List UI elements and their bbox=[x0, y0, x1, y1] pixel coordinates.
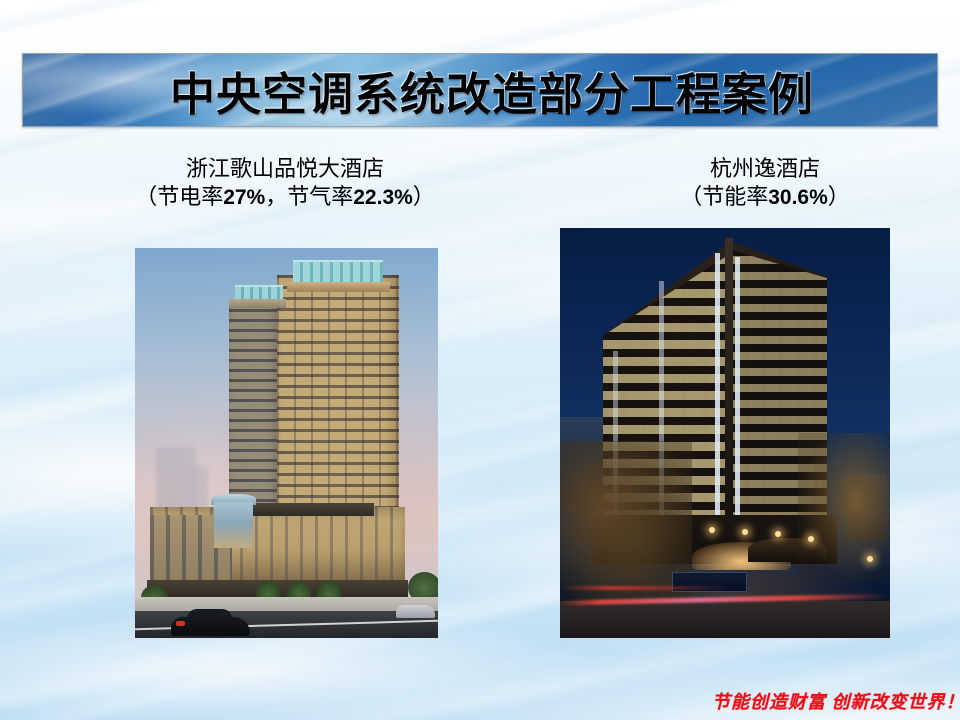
photo-right-lamp bbox=[709, 527, 715, 533]
photo-right-tree-right bbox=[798, 433, 890, 581]
slide-canvas: 中央空调系统改造部分工程案例 浙江歌山品悦大酒店 （节电率27%，节气率22.3… bbox=[0, 0, 960, 720]
photo-right-lamp bbox=[775, 531, 781, 537]
case-right-name: 杭州逸酒店 bbox=[620, 155, 910, 183]
photo-left-car-white bbox=[396, 605, 435, 618]
case-left-metric1: 27% bbox=[223, 186, 265, 209]
case-left-metrics-middle: ，节气率 bbox=[265, 184, 353, 209]
photo-right-light-trail-secondary bbox=[560, 586, 732, 590]
case-left-photo bbox=[135, 248, 438, 638]
case-right-metrics-prefix: （节能率 bbox=[680, 184, 768, 209]
photo-right-lamp bbox=[867, 556, 873, 562]
photo-right-light-stripe bbox=[715, 253, 720, 515]
case-left-metrics-prefix: （节电率 bbox=[135, 184, 223, 209]
case-right-metrics: （节能率30.6%） bbox=[620, 183, 910, 211]
case-right-photo bbox=[560, 228, 890, 638]
photo-left-car-black bbox=[171, 617, 250, 637]
case-left-caption: 浙江歌山品悦大酒店 （节电率27%，节气率22.3%） bbox=[110, 155, 460, 211]
photo-right-lamp bbox=[742, 529, 748, 535]
case-left-metric2: 22.3% bbox=[353, 186, 413, 209]
case-left-metrics: （节电率27%，节气率22.3%） bbox=[110, 183, 460, 211]
case-left-name: 浙江歌山品悦大酒店 bbox=[110, 155, 460, 183]
case-right-metrics-suffix: ） bbox=[828, 184, 850, 209]
footer-slogan: 节能创造财富 创新改变世界！ bbox=[712, 688, 952, 714]
photo-left-cornice-2 bbox=[229, 299, 287, 308]
photo-right-road bbox=[560, 601, 890, 638]
photo-left-main-tower bbox=[277, 275, 398, 532]
photo-right-building-corner bbox=[725, 238, 733, 533]
photo-left-cornice-1 bbox=[287, 282, 390, 292]
photo-right-light-stripe bbox=[735, 257, 740, 515]
case-right-metric1: 30.6% bbox=[768, 186, 828, 209]
photo-left-entrance bbox=[214, 502, 253, 549]
photo-right-lamp bbox=[808, 536, 814, 542]
page-title: 中央空调系统改造部分工程案例 bbox=[23, 54, 937, 126]
title-banner: 中央空调系统改造部分工程案例 bbox=[22, 53, 938, 127]
photo-left-car-taillight bbox=[176, 621, 185, 626]
case-right-caption: 杭州逸酒店 （节能率30.6%） bbox=[620, 155, 910, 211]
photo-left-tower-mullions bbox=[277, 275, 398, 532]
photo-left-canopy bbox=[253, 503, 374, 515]
case-left-metrics-suffix: ） bbox=[413, 184, 435, 209]
